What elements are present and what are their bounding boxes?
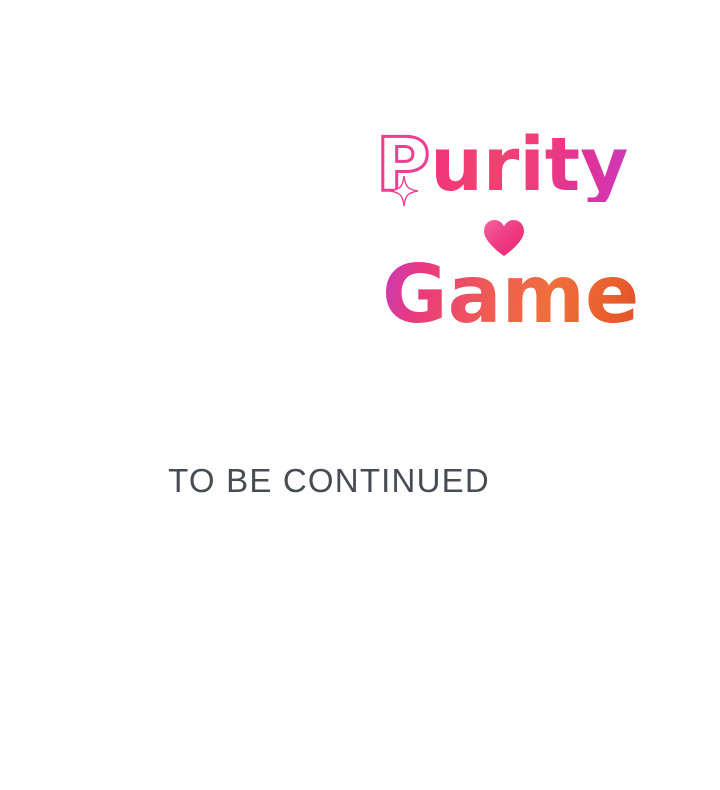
- to-be-continued-text: TO BE CONTINUED: [0, 462, 720, 500]
- purity-game-logo: Purity Game: [370, 128, 660, 343]
- logo-word-purity: Purity: [376, 128, 628, 202]
- logo-letter-p: P: [376, 128, 430, 202]
- comic-panel: Purity Game TO: [0, 0, 720, 790]
- logo-word-game: Game: [382, 255, 639, 335]
- logo-letters-urity: urity: [430, 128, 628, 202]
- logo-game-text: Game: [382, 255, 639, 335]
